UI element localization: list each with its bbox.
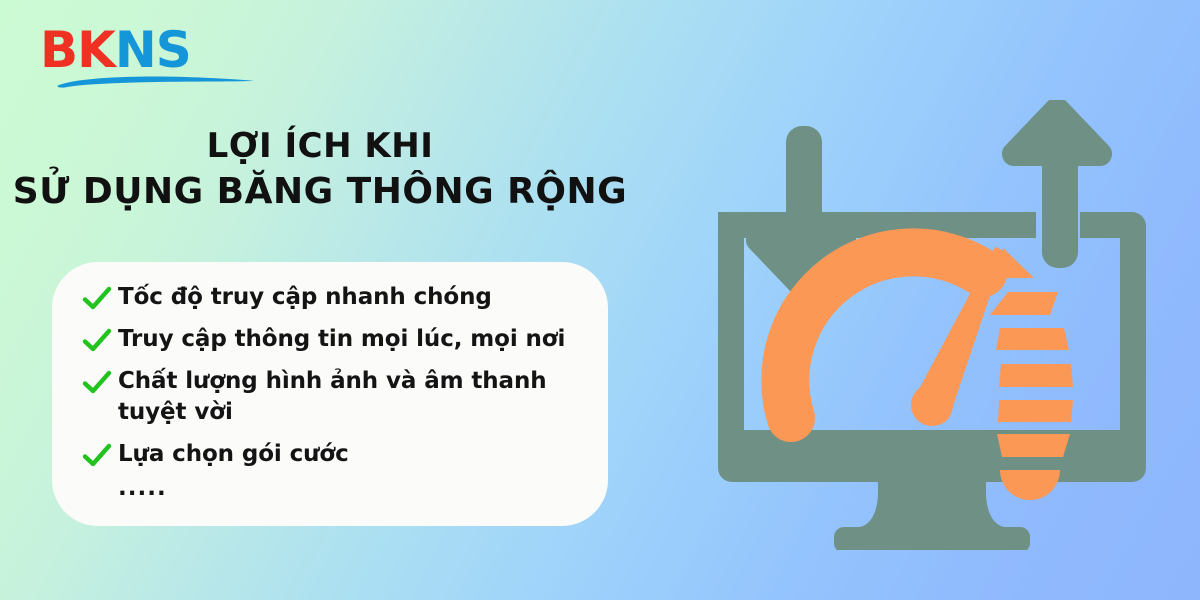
bkns-logo[interactable]: BKNS xyxy=(40,24,270,86)
green-check-icon xyxy=(82,285,112,313)
title-line-1: LỢI ÍCH KHI xyxy=(0,124,640,169)
upload-arrow-icon xyxy=(1002,100,1112,268)
list-item: Tốc độ truy cập nhanh chóng xyxy=(82,282,592,313)
title-line-2: SỬ DỤNG BĂNG THÔNG RỘNG xyxy=(0,169,640,214)
monitor-stand-icon xyxy=(834,482,1030,550)
poster-canvas: BKNS LỢI ÍCH KHI SỬ DỤNG BĂNG THÔNG RỘNG… xyxy=(0,0,1200,600)
green-check-icon xyxy=(82,369,112,397)
list-item-label: Lựa chọn gói cước xyxy=(118,439,349,470)
list-item: Chất lượng hình ảnh và âm thanh tuyệt vờ… xyxy=(82,366,592,428)
green-check-icon xyxy=(82,442,112,470)
list-item: Lựa chọn gói cước xyxy=(82,439,592,470)
green-check-icon xyxy=(82,327,112,355)
list-item-label: Tốc độ truy cập nhanh chóng xyxy=(118,282,492,313)
benefits-list: Tốc độ truy cập nhanh chóng Truy cập thô… xyxy=(82,282,592,501)
trailing-dots: ..... xyxy=(118,475,592,501)
list-item: Truy cập thông tin mọi lúc, mọi nơi xyxy=(82,324,592,355)
logo-ns-text: NS xyxy=(115,21,191,79)
swoosh-underline-icon xyxy=(56,74,256,88)
benefits-card: Tốc độ truy cập nhanh chóng Truy cập thô… xyxy=(52,262,608,526)
list-item-label: Truy cập thông tin mọi lúc, mọi nơi xyxy=(118,324,565,355)
logo-bk-text: BK xyxy=(40,21,115,79)
logo-wordmark: BKNS xyxy=(40,24,270,76)
list-item-label: Chất lượng hình ảnh và âm thanh tuyệt vờ… xyxy=(118,366,592,428)
monitor-speedometer-bandwidth-icon xyxy=(690,100,1160,550)
page-title: LỢI ÍCH KHI SỬ DỤNG BĂNG THÔNG RỘNG xyxy=(0,124,640,214)
